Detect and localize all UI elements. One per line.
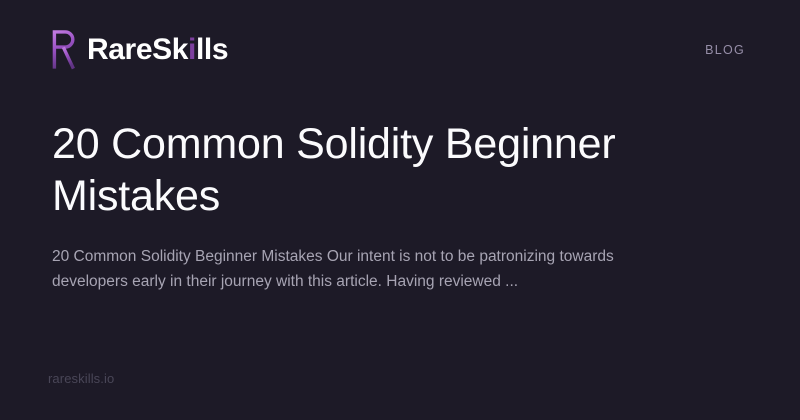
brand-name-dotted-i: i (188, 33, 196, 66)
nav-link-blog[interactable]: BLOG (705, 43, 745, 57)
site-footer: rareskills.io (48, 370, 114, 388)
rareskills-r-monogram-icon (52, 30, 76, 70)
site-header: RareSkills BLOG (0, 0, 800, 100)
page-description: 20 Common Solidity Beginner Mistakes Our… (52, 223, 644, 294)
page-title: 20 Common Solidity Beginner Mistakes (52, 118, 682, 223)
brand-logo-link[interactable]: RareSkills (52, 30, 228, 70)
hero-section: 20 Common Solidity Beginner Mistakes 20 … (52, 118, 682, 294)
footer-site-url[interactable]: rareskills.io (48, 371, 114, 386)
primary-nav: BLOG (705, 41, 745, 59)
brand-name: RareSkills (87, 35, 228, 65)
brand-name-part2: lls (196, 33, 228, 66)
page-root: RareSkills BLOG 20 Common Solidity Begin… (0, 0, 800, 420)
brand-name-part1: RareSk (87, 33, 188, 66)
